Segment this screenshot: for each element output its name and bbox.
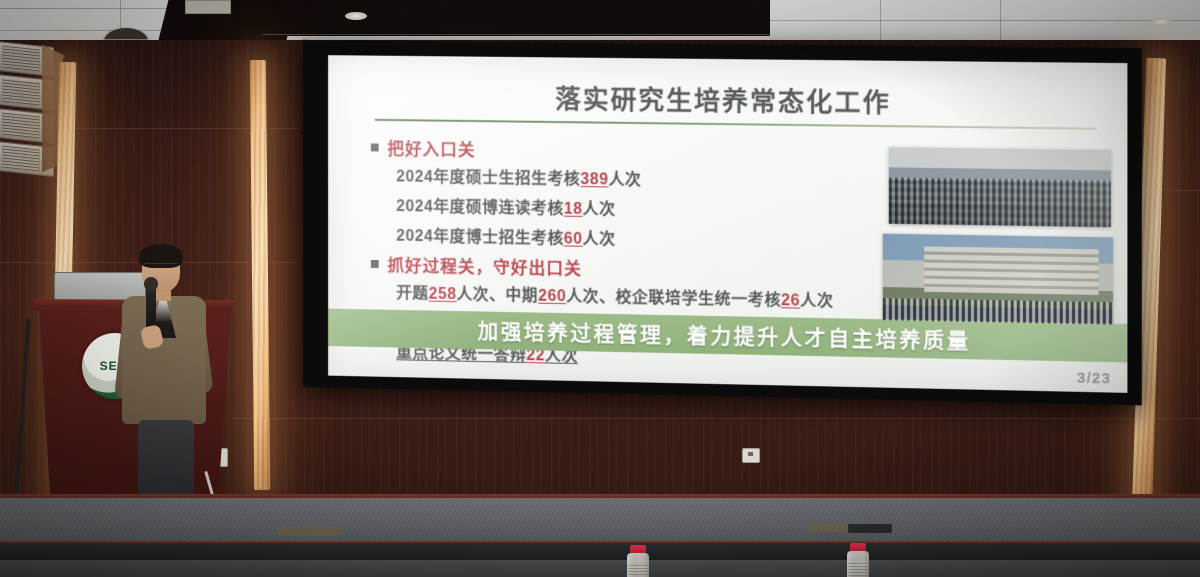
line-text: 人次	[800, 293, 833, 311]
line-text: 人次	[583, 231, 616, 248]
presentation-room-photo: 落实研究生培养常态化工作 把好入口关 2024年度硕士生招生考核389人次 20…	[0, 0, 1200, 577]
line-number: 60	[564, 231, 583, 248]
bottle-label	[848, 563, 868, 576]
slide-photo-campus	[883, 234, 1113, 325]
line-number: 260	[538, 288, 566, 305]
slide-photo-auditorium	[889, 147, 1111, 227]
line-number: 389	[580, 171, 608, 188]
section-heading-1-label: 把好入口关	[387, 135, 475, 161]
wall-outlet	[742, 448, 760, 463]
page-title: 落实研究生培养常态化工作	[328, 77, 1127, 123]
ceiling-grid-line	[880, 0, 881, 40]
line-text: 人次	[608, 171, 641, 188]
line-text: 2024年度硕博连读考核	[396, 198, 564, 217]
water-bottle[interactable]	[625, 545, 651, 577]
wall-seam	[232, 418, 1200, 419]
line-text: 人次	[583, 201, 616, 218]
line-number: 258	[429, 286, 457, 303]
projection-screen: 落实研究生培养常态化工作 把好入口关 2024年度硕士生招生考核389人次 20…	[303, 40, 1142, 405]
water-bottle[interactable]	[845, 543, 871, 577]
line-text: 人次、中期	[457, 286, 539, 304]
line-number: 18	[564, 201, 583, 218]
stage-floor	[0, 498, 1200, 546]
crowd-imagery	[889, 147, 1111, 227]
ceiling-vent	[185, 0, 231, 14]
line-text: 人次、校企联培学生统一考核	[566, 288, 781, 309]
floor-marking	[848, 524, 892, 533]
line-text: 2024年度博士招生考核	[396, 228, 564, 248]
section-heading-2-label: 抓好过程关，守好出口关	[387, 251, 581, 279]
front-floor	[0, 560, 1200, 577]
line-text: 开题	[396, 285, 428, 302]
ceiling-downlight-icon	[345, 12, 367, 20]
building-imagery	[883, 234, 1113, 325]
line-number: 26	[781, 292, 800, 309]
page-number: 3/23	[1077, 370, 1111, 388]
carpet-texture	[0, 498, 1200, 546]
line-text: 2024年度硕士生招生考核	[396, 169, 580, 189]
ceiling-grid-line	[770, 20, 1200, 21]
floor-marking	[278, 527, 342, 536]
bullet-square-icon	[371, 143, 379, 151]
ceiling-downlight-icon	[1150, 18, 1172, 26]
bullet-square-icon	[371, 260, 379, 268]
glasses-icon	[144, 263, 178, 272]
summary-banner-label: 加强培养过程管理，着力提升人才自主培养质量	[478, 315, 971, 355]
bottle-label	[628, 565, 648, 577]
slide-content: 落实研究生培养常态化工作 把好入口关 2024年度硕士生招生考核389人次 20…	[328, 55, 1127, 393]
ceiling-grid-line	[1000, 0, 1001, 40]
